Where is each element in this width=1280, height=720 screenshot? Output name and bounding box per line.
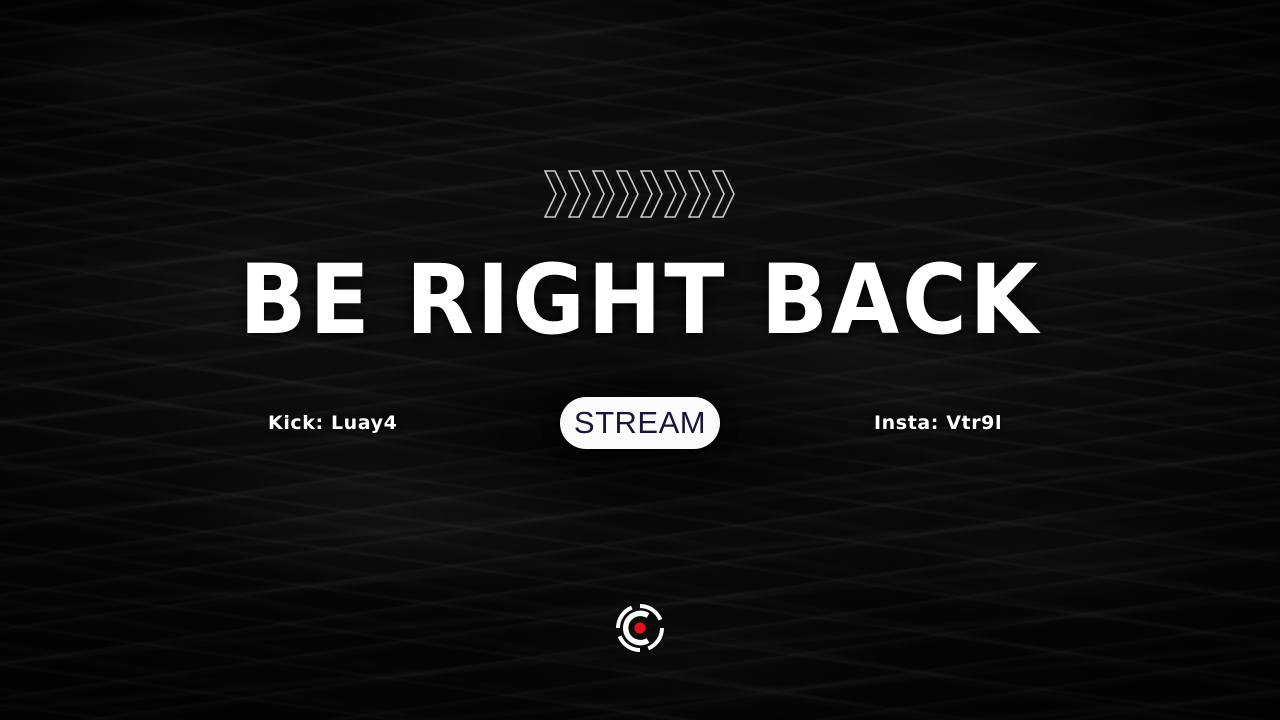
instagram-handle-label: Insta: Vtr9l (874, 396, 1002, 450)
record-target-logo-icon (614, 602, 666, 654)
chevron-right-outline-icon (568, 169, 593, 219)
chevron-right-outline-icon (616, 169, 641, 219)
chevron-right-outline-icon (712, 169, 737, 219)
stream-overlay-screen: BE RIGHT BACK Kick: Luay4 STREAM Insta: … (0, 0, 1280, 720)
chevron-decoration-row (0, 168, 1280, 220)
stream-badge[interactable]: STREAM (560, 397, 720, 449)
stream-badge-label: STREAM (574, 407, 706, 438)
chevron-right-outline-icon (544, 169, 569, 219)
chevron-right-outline-icon (664, 169, 689, 219)
chevron-right-outline-icon (640, 169, 665, 219)
kick-handle-label: Kick: Luay4 (268, 396, 397, 450)
social-handles-row: Kick: Luay4 STREAM Insta: Vtr9l (0, 396, 1280, 450)
chevron-right-outline-icon (592, 169, 617, 219)
chevron-right-outline-icon (688, 169, 713, 219)
page-title: BE RIGHT BACK (51, 248, 1229, 352)
